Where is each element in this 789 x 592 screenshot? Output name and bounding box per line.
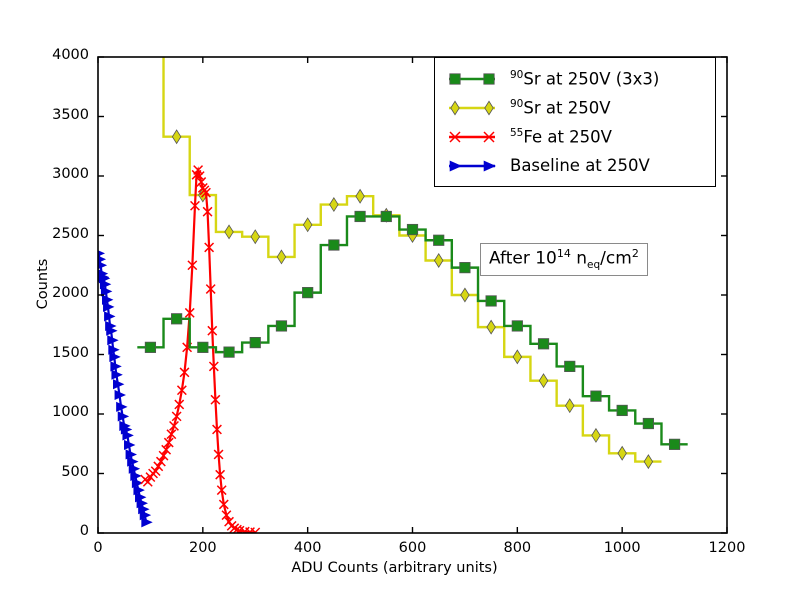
series-triangle-right xyxy=(94,249,152,527)
data-marker-square xyxy=(145,342,155,352)
data-marker-square xyxy=(224,347,234,357)
x-tick-label: 1000 xyxy=(587,540,657,556)
legend-label-0: 90Sr at 250V (3x3) xyxy=(510,69,659,89)
data-marker-square xyxy=(617,405,627,415)
legend-swatch-x-icon xyxy=(443,126,501,148)
data-marker-triangle xyxy=(450,161,461,171)
x-axis-label: ADU Counts (arbitrary units) xyxy=(0,560,789,576)
data-marker-triangle xyxy=(142,518,152,527)
data-marker-diamond xyxy=(172,130,181,144)
data-marker-diamond xyxy=(330,198,339,212)
data-marker-diamond xyxy=(356,189,365,203)
data-marker-square xyxy=(565,361,575,371)
legend-item-1[interactable]: 90Sr at 250V xyxy=(443,93,707,122)
legend-item-3[interactable]: Baseline at 250V xyxy=(443,151,707,180)
data-marker-square xyxy=(355,211,365,221)
x-tick-label: 0 xyxy=(63,540,133,556)
legend-label-1: 90Sr at 250V xyxy=(510,98,610,118)
data-marker-diamond xyxy=(566,399,575,413)
data-marker-square xyxy=(250,337,260,347)
y-tick-label: 1000 xyxy=(19,404,89,420)
data-marker-diamond xyxy=(434,254,443,267)
data-marker-diamond xyxy=(487,320,496,334)
legend-item-0[interactable]: 90Sr at 250V (3x3) xyxy=(443,64,707,93)
data-marker-square xyxy=(407,224,417,234)
annotation-suffix: /cm xyxy=(600,249,632,269)
data-marker-diamond xyxy=(618,447,627,461)
y-tick-label: 3500 xyxy=(19,107,89,123)
y-tick-label: 1500 xyxy=(19,345,89,361)
x-tick-label: 800 xyxy=(482,540,552,556)
legend-swatch-square-icon xyxy=(443,68,501,90)
data-marker-square xyxy=(276,321,286,331)
chart-legend: 90Sr at 250V (3x3)90Sr at 250V55Fe at 25… xyxy=(434,57,716,187)
data-marker-diamond xyxy=(592,429,601,443)
annotation-prefix: After 10 xyxy=(489,249,557,269)
annotation-subscript: eq xyxy=(587,259,600,271)
data-marker-square xyxy=(643,418,653,428)
annotation-suffix-exponent: 2 xyxy=(632,247,639,260)
x-tick-label: 1200 xyxy=(692,540,762,556)
data-marker-square xyxy=(669,439,679,449)
y-tick-label: 3000 xyxy=(19,166,89,182)
data-marker-diamond xyxy=(277,250,286,264)
x-tick-label: 200 xyxy=(168,540,238,556)
data-marker-square xyxy=(198,342,208,352)
data-marker-square xyxy=(484,73,494,83)
data-marker-square xyxy=(538,339,548,349)
data-marker-square xyxy=(512,321,522,331)
legend-label-superscript: 90 xyxy=(510,98,523,110)
data-marker-diamond xyxy=(485,101,494,115)
legend-label-3: Baseline at 250V xyxy=(510,156,650,175)
data-marker-diamond xyxy=(644,455,653,469)
data-marker-square xyxy=(302,287,312,297)
data-marker-square xyxy=(171,314,181,324)
data-marker-triangle xyxy=(484,161,495,171)
data-marker-square xyxy=(381,211,391,221)
legend-label-superscript: 90 xyxy=(510,69,523,81)
data-marker-diamond xyxy=(225,225,234,239)
y-tick-label: 2500 xyxy=(19,226,89,242)
legend-label-2: 55Fe at 250V xyxy=(510,127,612,147)
data-marker-diamond xyxy=(251,230,260,244)
y-tick-label: 500 xyxy=(19,464,89,480)
legend-label-superscript: 55 xyxy=(510,127,523,139)
annotation-symbol: n xyxy=(571,249,587,269)
legend-swatch-diamond-icon xyxy=(443,97,501,119)
data-marker-diamond xyxy=(513,350,522,364)
x-tick-label: 400 xyxy=(273,540,343,556)
data-marker-diamond xyxy=(461,288,470,302)
data-marker-diamond xyxy=(451,101,460,115)
data-marker-square xyxy=(460,262,470,272)
data-marker-square xyxy=(434,235,444,245)
legend-swatch-triangle-right-icon xyxy=(443,155,501,177)
y-tick-label: 2000 xyxy=(19,285,89,301)
x-tick-label: 600 xyxy=(378,540,448,556)
data-marker-square xyxy=(450,73,460,83)
annotation-exponent: 14 xyxy=(557,247,571,260)
data-marker-diamond xyxy=(539,374,548,388)
y-tick-label: 4000 xyxy=(19,47,89,63)
y-tick-label: 0 xyxy=(19,523,89,539)
data-marker-square xyxy=(591,391,601,401)
data-marker-square xyxy=(486,296,496,306)
fluence-annotation: After 1014 neq/cm2 xyxy=(480,243,648,276)
data-marker-diamond xyxy=(303,218,312,232)
chart-figure: ADU Counts (arbitrary units) Counts 0500… xyxy=(0,0,789,592)
data-marker-square xyxy=(329,240,339,250)
y-axis-label: Counts xyxy=(35,224,51,344)
legend-item-2[interactable]: 55Fe at 250V xyxy=(443,122,707,151)
